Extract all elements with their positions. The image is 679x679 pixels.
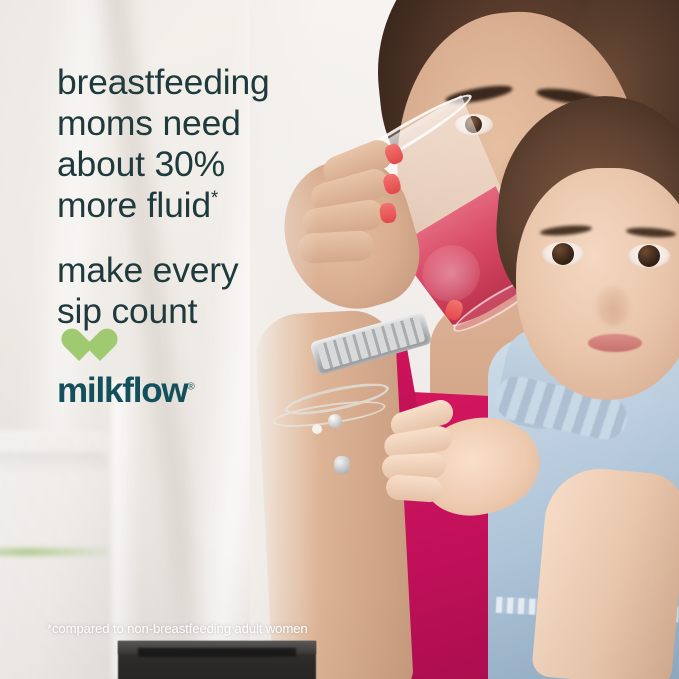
- heart-icon: [59, 330, 99, 366]
- baby-finger: [385, 474, 443, 503]
- baby-arm: [531, 464, 679, 679]
- footnote-marker: *: [211, 188, 218, 209]
- milkflow-advertisement: breastfeeding moms need about 30% more f…: [0, 0, 679, 679]
- headline-line-4: more fluid*: [57, 185, 357, 226]
- subhead-line-1: make every: [57, 250, 357, 291]
- baby-pupil-left: [552, 243, 574, 265]
- subhead-line-2: sip count: [57, 291, 357, 332]
- headline-line-1: breastfeeding: [57, 62, 357, 103]
- baby-nose: [596, 286, 630, 326]
- brand-wordmark: milkflow®: [57, 373, 195, 408]
- headline-line-4-text: more fluid: [57, 185, 211, 225]
- bracelet-charm: [334, 456, 350, 474]
- footnote-text: *compared to non-breastfeeding adult wom…: [47, 621, 308, 636]
- planter-box-interior: [138, 648, 296, 657]
- bracelet-bead: [312, 424, 322, 434]
- headline-line-2: moms need: [57, 103, 357, 144]
- baby-pupil-right: [638, 245, 660, 267]
- baby-mouth: [588, 334, 642, 352]
- brand-wordmark-text: milkflow: [57, 371, 187, 410]
- bracelet-charm: [328, 414, 342, 428]
- appliance-green-accent-line: [0, 548, 108, 556]
- headline-line-3: about 30%: [57, 144, 357, 185]
- registered-trademark-icon: ®: [187, 381, 194, 392]
- brand-logo[interactable]: milkflow®: [57, 330, 195, 408]
- ad-copy-block: breastfeeding moms need about 30% more f…: [57, 62, 357, 332]
- appliance-lid: [0, 452, 108, 474]
